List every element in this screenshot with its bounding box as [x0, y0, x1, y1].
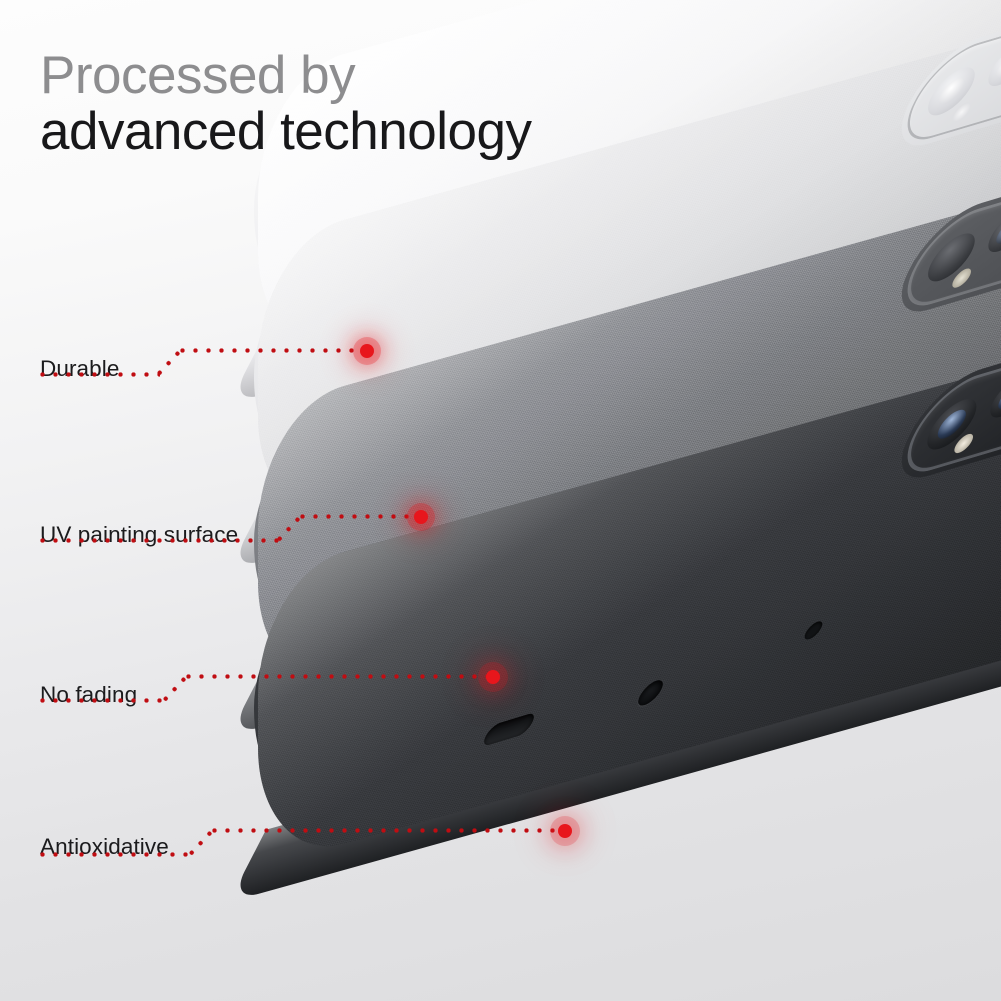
leader-line-diagonal: [162, 674, 189, 702]
leader-line-diagonal: [276, 514, 303, 542]
leader-line-horizontal: [212, 828, 564, 833]
callout-antioxidative: Antioxidative: [40, 806, 600, 868]
callout-target-dot: [360, 344, 374, 358]
callout-label: UV painting surface: [40, 522, 238, 548]
callout-uv-painting-surface: UV painting surface: [40, 496, 460, 556]
callout-target-dot: [558, 824, 572, 838]
leader-line-underline: [40, 698, 166, 703]
callout-target-dot: [414, 510, 428, 524]
callout-label: No fading: [40, 682, 137, 708]
leader-line-horizontal: [180, 348, 366, 353]
leader-line-underline: [40, 852, 192, 857]
callout-target-dot: [486, 670, 500, 684]
callout-durable: Durable: [40, 330, 400, 390]
product-feature-banner: Processed by advanced technology: [0, 0, 1001, 1001]
feature-callouts: Durable UV painting surface No fading An…: [0, 0, 1001, 1001]
leader-line-diagonal: [156, 348, 183, 376]
leader-line-diagonal: [188, 828, 215, 856]
leader-line-underline: [40, 538, 280, 543]
leader-line-horizontal: [186, 674, 492, 679]
leader-line-horizontal: [300, 514, 420, 519]
callout-no-fading: No fading: [40, 656, 520, 716]
leader-line-underline: [40, 372, 160, 377]
callout-label: Durable: [40, 356, 120, 382]
